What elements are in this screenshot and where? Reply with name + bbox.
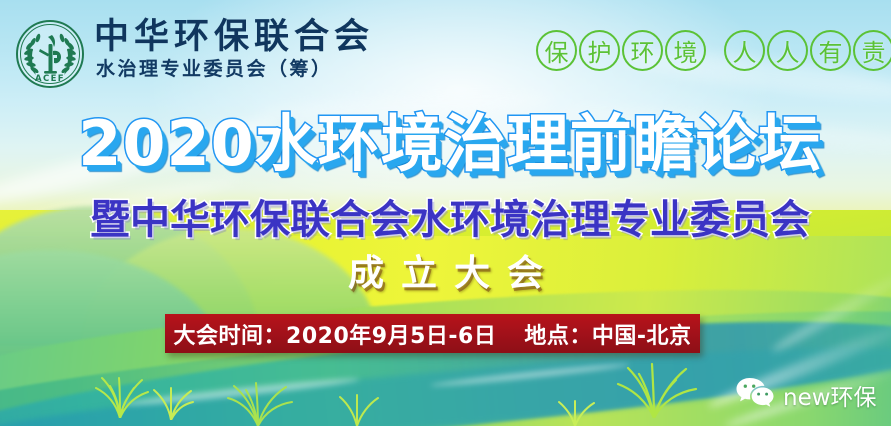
grass-tuft-icon xyxy=(145,384,199,420)
event-subtitle: 暨中华环保联合会水环境治理专业委员会 xyxy=(50,200,850,240)
org-name: 中华环保联合会 xyxy=(94,20,374,55)
grass-tuft-icon xyxy=(216,378,300,426)
wechat-label: new环保 xyxy=(783,378,877,412)
main-title: 2020水环境治理前瞻论坛 xyxy=(50,113,850,175)
time-label: 大会时间： xyxy=(174,324,287,349)
slogan-char: 保 xyxy=(536,30,577,71)
wechat-watermark: new环保 xyxy=(735,376,877,413)
grass-tuft-icon xyxy=(606,358,702,418)
slogan-char: 护 xyxy=(579,30,620,71)
slogan-char: 责 xyxy=(853,30,891,71)
grass-tuft-icon xyxy=(330,392,386,426)
founding-ceremony-text: 成立大会 xyxy=(0,256,891,292)
slogan-char: 有 xyxy=(810,30,851,71)
svg-text:ACEF: ACEF xyxy=(35,74,65,84)
grass-tuft-icon xyxy=(552,398,600,426)
slogan-group-responsibility: 人 人 有 责 xyxy=(724,30,891,71)
event-info-bar: 大会时间：2020年9月5日-6日地点：中国-北京 xyxy=(165,314,700,353)
place-label: 地点： xyxy=(524,324,592,349)
place-value: 中国-北京 xyxy=(592,324,692,349)
slogan-circles: 保 护 环 境 人 人 有 责 xyxy=(536,30,891,71)
slogan-char: 人 xyxy=(767,30,808,71)
org-subtitle: 水治理专业委员会（筹） xyxy=(96,60,333,79)
slogan-char: 环 xyxy=(622,30,663,71)
time-value: 2020年9月5日-6日 xyxy=(286,324,496,349)
slogan-group-protect: 保 护 环 境 xyxy=(536,30,706,71)
poster-banner: ACEF 中华环保联合会 水治理专业委员会（筹） 保 护 环 境 人 人 有 责… xyxy=(0,0,891,426)
poster-header: ACEF 中华环保联合会 水治理专业委员会（筹） 保 护 环 境 人 人 有 责 xyxy=(0,0,891,96)
slogan-char: 境 xyxy=(665,30,706,71)
event-info-text: 大会时间：2020年9月5日-6日地点：中国-北京 xyxy=(174,318,692,350)
wechat-icon xyxy=(735,376,775,413)
acef-logo-icon: ACEF xyxy=(14,18,86,90)
slogan-char: 人 xyxy=(724,30,765,71)
